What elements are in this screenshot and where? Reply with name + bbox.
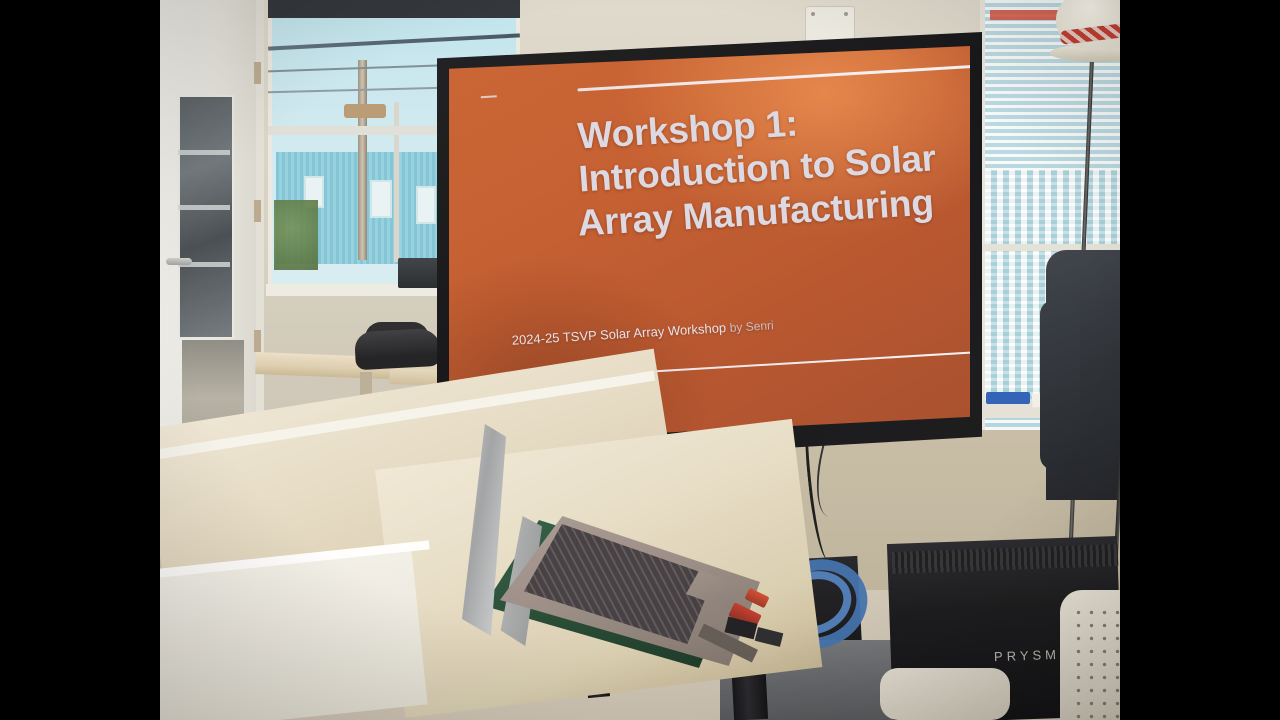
vr-headset	[354, 328, 442, 370]
window-shade	[268, 0, 520, 18]
tree-outside	[274, 200, 318, 270]
slide-byline: by Senri	[729, 318, 774, 335]
slide-subtitle: 2024-25 TSVP Solar Array Workshop by Sen…	[511, 308, 931, 348]
slide-tick-mark	[481, 95, 497, 98]
jacket-sleeve	[1040, 300, 1080, 470]
door-hinge	[254, 330, 261, 352]
door-hinge	[254, 62, 261, 84]
chair-mesh-pattern	[1072, 606, 1120, 720]
white-chair-arm	[880, 668, 1010, 720]
slide-top-rule	[577, 64, 970, 91]
transformer	[344, 104, 386, 118]
slide-subtitle-text: 2024-25 TSVP Solar Array Workshop	[511, 320, 726, 348]
screenshot-root: Workshop 1: Introduction to Solar Array …	[0, 0, 1280, 720]
laptop[interactable]	[460, 420, 780, 680]
room-photo: Workshop 1: Introduction to Solar Array …	[160, 0, 1120, 720]
cabinet-brand-label: PRYSM	[994, 647, 1060, 664]
door-handle[interactable]	[166, 258, 192, 265]
slide-title: Workshop 1: Introduction to Solar Array …	[576, 90, 970, 244]
door-hinge	[254, 200, 261, 222]
letterbox-bar-right	[1120, 0, 1280, 720]
blue-object-on-sill	[986, 392, 1030, 404]
letterbox-bar-left	[0, 0, 160, 720]
door-glass-panel	[178, 95, 234, 339]
room-door[interactable]	[160, 0, 260, 470]
